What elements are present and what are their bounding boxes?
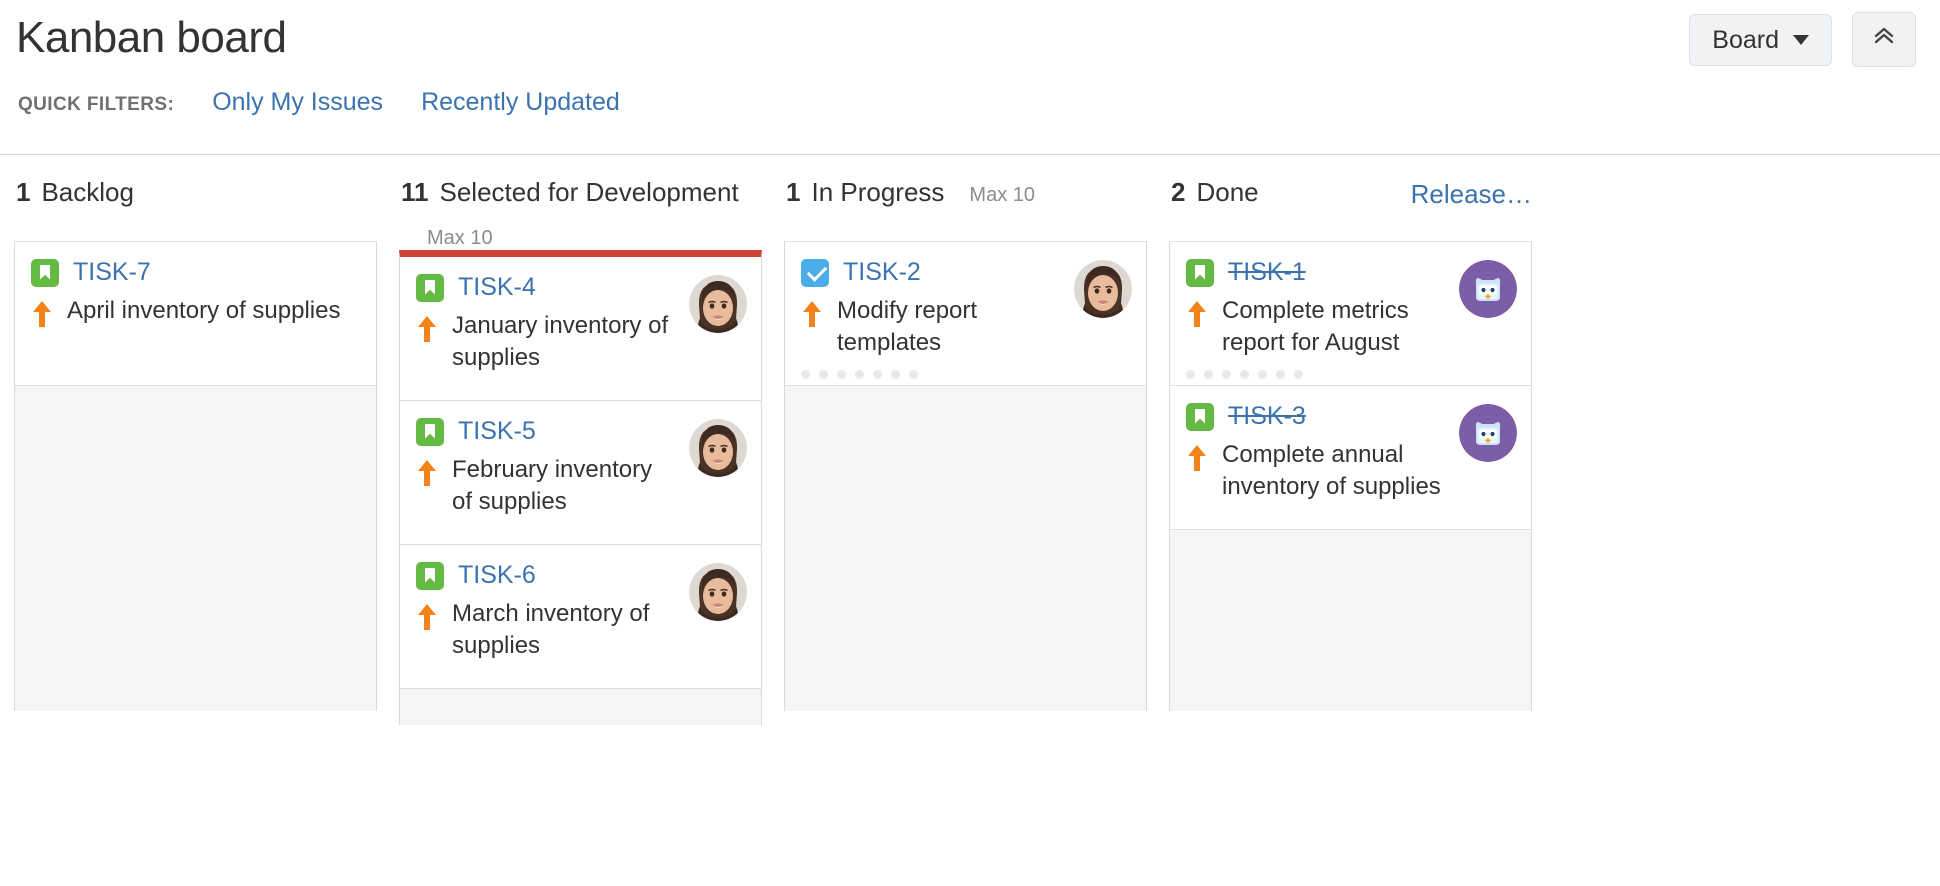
day-dot (1240, 370, 1249, 379)
card-header: TISK-5 (416, 417, 677, 446)
card-header: TISK-7 (31, 258, 362, 287)
quick-filters-label: QUICK FILTERS: (18, 94, 174, 116)
day-dot (837, 370, 846, 379)
card-content: TISK-1 Complete metrics report for Augus… (1186, 258, 1447, 367)
card-body: Modify report templates (801, 295, 1062, 358)
issue-card[interactable]: TISK-6 March inventory of supplies (400, 545, 761, 689)
issue-summary: March inventory of supplies (452, 598, 677, 661)
column-body-done[interactable]: TISK-1 Complete metrics report for Augus… (1169, 241, 1532, 711)
column-name: Done (1196, 177, 1258, 208)
priority-major-icon (1186, 299, 1208, 329)
column-count: 2 (1171, 177, 1185, 208)
board-column-selected-for-development: 11 Selected for Development Max 10 TISK-… (385, 155, 770, 886)
issue-summary: April inventory of supplies (67, 295, 340, 327)
issue-card[interactable]: TISK-5 February inventory of supplies (400, 401, 761, 545)
card-content: TISK-2 Modify report templates (801, 258, 1062, 367)
task-type-icon (801, 259, 829, 287)
day-dot (1276, 370, 1285, 379)
collapse-header-button[interactable] (1852, 12, 1916, 67)
avatar[interactable] (689, 419, 747, 477)
board-column-backlog: 1 Backlog TISK-7 April inventory of supp… (0, 155, 385, 886)
page-title: Kanban board (16, 14, 1916, 62)
card-body: Complete annual inventory of supplies (1186, 439, 1447, 502)
card-body: February inventory of supplies (416, 454, 677, 517)
issue-summary: January inventory of supplies (452, 310, 677, 373)
issue-key-link[interactable]: TISK-6 (458, 561, 536, 590)
card-header: TISK-3 (1186, 402, 1447, 431)
issue-card[interactable]: TISK-2 Modify report templates (785, 242, 1146, 386)
card-header: TISK-1 (1186, 258, 1447, 287)
day-dot (819, 370, 828, 379)
card-header: TISK-6 (416, 561, 677, 590)
issue-summary: Complete metrics report for August (1222, 295, 1447, 358)
day-dot (1294, 370, 1303, 379)
card-content: TISK-3 Complete annual inventory of supp… (1186, 402, 1447, 511)
issue-key-link[interactable]: TISK-3 (1228, 402, 1306, 431)
card-body: March inventory of supplies (416, 598, 677, 661)
priority-major-icon (416, 602, 438, 632)
chevron-down-icon (1793, 35, 1809, 45)
column-name: Backlog (41, 177, 134, 208)
day-dot (1186, 370, 1195, 379)
column-count: 1 (786, 177, 800, 208)
column-body-in-progress[interactable]: TISK-2 Modify report templates (784, 241, 1147, 711)
issue-key-link[interactable]: TISK-4 (458, 273, 536, 302)
board-column-done: 2 Done Release… TISK-1 Complete metrics … (1155, 155, 1540, 886)
avatar[interactable] (689, 563, 747, 621)
quick-filter-only-my-issues[interactable]: Only My Issues (212, 88, 383, 117)
card-body: Complete metrics report for August (1186, 295, 1447, 358)
story-type-icon (1186, 403, 1214, 431)
day-dot (1258, 370, 1267, 379)
day-dot (909, 370, 918, 379)
column-wip-limit: Max 10 (969, 184, 1035, 207)
avatar[interactable] (1459, 404, 1517, 462)
issue-card[interactable]: TISK-7 April inventory of supplies (15, 242, 376, 386)
priority-major-icon (1186, 443, 1208, 473)
issue-key-link[interactable]: TISK-5 (458, 417, 536, 446)
kanban-board: 1 Backlog TISK-7 April inventory of supp… (0, 155, 1940, 886)
issue-key-link[interactable]: TISK-1 (1228, 258, 1306, 287)
board-column-in-progress: 1 In Progress Max 10 TISK-2 Modify repor… (770, 155, 1155, 886)
priority-major-icon (416, 314, 438, 344)
column-header-selected-for-development: 11 Selected for Development Max 10 (385, 155, 770, 250)
quick-filter-recently-updated[interactable]: Recently Updated (421, 88, 620, 117)
card-body: January inventory of supplies (416, 310, 677, 373)
avatar[interactable] (1074, 260, 1132, 318)
issue-key-link[interactable]: TISK-7 (73, 258, 151, 287)
column-count: 11 (401, 177, 429, 208)
issue-summary: Modify report templates (837, 295, 1062, 358)
priority-major-icon (31, 299, 53, 329)
card-content: TISK-6 March inventory of supplies (416, 561, 677, 670)
release-link[interactable]: Release… (1411, 179, 1532, 210)
board-dropdown-label: Board (1712, 25, 1779, 55)
day-dot (801, 370, 810, 379)
board-header: Kanban board Board QUICK FILTERS: Only M… (0, 0, 1940, 155)
column-body-backlog[interactable]: TISK-7 April inventory of supplies (14, 241, 377, 711)
priority-major-icon (416, 458, 438, 488)
days-in-column-indicator (1186, 370, 1303, 379)
avatar[interactable] (1459, 260, 1517, 318)
column-count: 1 (16, 177, 30, 208)
card-body: April inventory of supplies (31, 295, 362, 329)
column-header-backlog: 1 Backlog (0, 155, 385, 241)
card-header: TISK-2 (801, 258, 1062, 287)
day-dot (873, 370, 882, 379)
days-in-column-indicator (801, 370, 918, 379)
column-name: Selected for Development (440, 177, 739, 208)
card-content: TISK-7 April inventory of supplies (31, 258, 362, 367)
day-dot (1204, 370, 1213, 379)
quick-filters-bar: QUICK FILTERS: Only My Issues Recently U… (16, 88, 1916, 117)
issue-key-link[interactable]: TISK-2 (843, 258, 921, 287)
column-header-in-progress: 1 In Progress Max 10 (770, 155, 1155, 241)
card-header: TISK-4 (416, 273, 677, 302)
story-type-icon (416, 274, 444, 302)
day-dot (855, 370, 864, 379)
card-content: TISK-5 February inventory of supplies (416, 417, 677, 526)
board-dropdown-button[interactable]: Board (1689, 14, 1832, 66)
story-type-icon (416, 418, 444, 446)
issue-card[interactable]: TISK-3 Complete annual inventory of supp… (1170, 386, 1531, 530)
day-dot (891, 370, 900, 379)
issue-summary: Complete annual inventory of supplies (1222, 439, 1447, 502)
priority-major-icon (801, 299, 823, 329)
chevron-double-up-icon (1871, 23, 1897, 56)
issue-summary: February inventory of supplies (452, 454, 677, 517)
column-wip-limit: Max 10 (427, 227, 493, 249)
column-name: In Progress (811, 177, 944, 208)
column-body-selected-for-development[interactable]: TISK-4 January inventory of supplies (399, 250, 762, 725)
story-type-icon (31, 259, 59, 287)
story-type-icon (1186, 259, 1214, 287)
issue-card[interactable]: TISK-4 January inventory of supplies (400, 257, 761, 401)
issue-card[interactable]: TISK-1 Complete metrics report for Augus… (1170, 242, 1531, 386)
card-content: TISK-4 January inventory of supplies (416, 273, 677, 382)
avatar[interactable] (689, 275, 747, 333)
day-dot (1222, 370, 1231, 379)
header-controls: Board (1689, 12, 1916, 67)
column-max-wrap: Max 10 (413, 227, 770, 250)
story-type-icon (416, 562, 444, 590)
